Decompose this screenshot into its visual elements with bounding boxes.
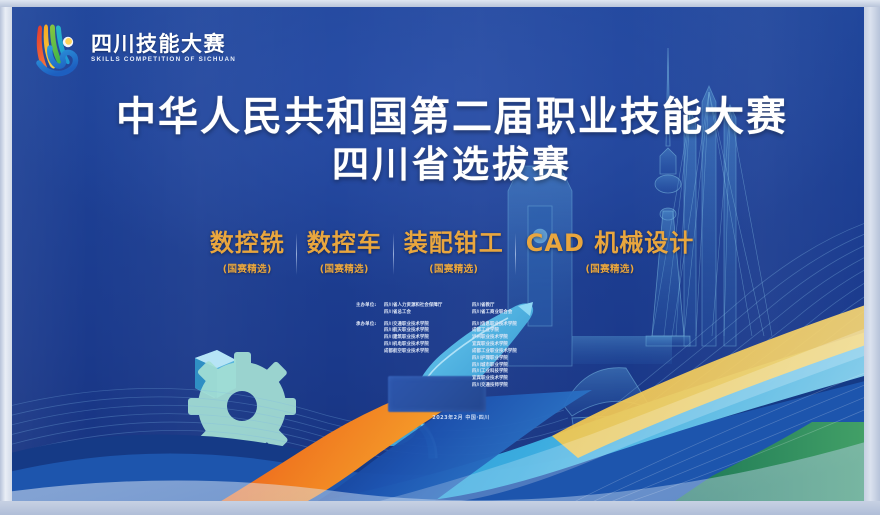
- poster-banner-image: 四川技能大赛 SKILLS COMPETITION OF SICHUAN 中华人…: [0, 0, 880, 515]
- organizer-col-1: 四川交通职业技术学院 四川航天职业技术学院 四川建筑职业技术学院 四川机电职业技…: [384, 322, 462, 390]
- title-line-2: 四川省选拔赛: [12, 141, 864, 189]
- sichuan-skills-emblem-icon: [30, 21, 82, 77]
- category-name: CAD 机械设计: [526, 230, 694, 258]
- logo-title-en: SKILLS COMPETITION OF SICHUAN: [91, 57, 236, 63]
- host-col-1: 四川省人力资源和社会保障厅 四川省总工会: [384, 303, 462, 317]
- category-item-1: 数控车 (国赛精选): [296, 230, 393, 275]
- banner-board: 四川技能大赛 SKILLS COMPETITION OF SICHUAN 中华人…: [12, 6, 864, 503]
- main-title-block: 中华人民共和国第二届职业技能大赛 四川省选拔赛: [12, 94, 864, 189]
- frame-edge-top: [0, 0, 880, 7]
- date-location-line: 2023年2月 中国·四川: [356, 414, 566, 421]
- category-subtitle: (国赛精选): [404, 261, 504, 275]
- category-name: 数控铣: [210, 230, 285, 258]
- credit-entry: 四川省教厅: [472, 303, 544, 310]
- host-row: 主办单位: 四川省人力资源和社会保障厅 四川省总工会 四川省教厅 四川省工商业联…: [356, 303, 566, 317]
- credit-entry: 宜宾职业技术学院: [472, 342, 544, 349]
- category-item-0: 数控铣 (国赛精选): [199, 230, 296, 275]
- credit-entry: 四川交通技师学院: [472, 383, 544, 390]
- logo-title-cn: 四川技能大赛: [91, 34, 236, 55]
- category-name: 数控车: [307, 230, 382, 258]
- credit-entry: 四川机电职业技术学院: [384, 342, 462, 349]
- frame-edge-bottom: [0, 501, 880, 515]
- credit-entry: 成都航空职业技术学院: [384, 349, 462, 356]
- host-label: 主办单位:: [356, 303, 384, 317]
- frame-edge-left: [0, 0, 12, 515]
- category-name: 装配钳工: [404, 230, 504, 258]
- credit-entry: 四川省人力资源和社会保障厅: [384, 303, 462, 310]
- frame-edge-right: [864, 0, 880, 515]
- category-subtitle: (国赛精选): [526, 261, 694, 275]
- wave-lines-left: [12, 388, 596, 496]
- category-list: 数控铣 (国赛精选) 数控车 (国赛精选) 装配钳工 (国赛精选) CAD 机械…: [12, 230, 864, 275]
- category-item-3: CAD 机械设计 (国赛精选): [515, 230, 705, 275]
- organizer-col-2: 四川信息职业技术学院 成都工业学院 泸州职业技术学院 宜宾职业技术学院 成都工业…: [472, 322, 544, 390]
- category-subtitle: (国赛精选): [210, 261, 285, 275]
- credit-entry: 四川省总工会: [384, 310, 462, 317]
- credit-entry: 四川护理职业学院: [472, 356, 544, 363]
- category-subtitle: (国赛精选): [307, 261, 382, 275]
- organizer-row: 承办单位: 四川交通职业技术学院 四川航天职业技术学院 四川建筑职业技术学院 四…: [356, 322, 566, 390]
- title-line-1: 中华人民共和国第二届职业技能大赛: [12, 94, 864, 141]
- organizer-label: 承办单位:: [356, 322, 384, 390]
- credit-entry: 成都工业职业技术学院: [472, 349, 544, 356]
- cube-icon: [195, 350, 236, 398]
- category-item-2: 装配钳工 (国赛精选): [393, 230, 515, 275]
- credit-entry: 四川省工商业联合会: [472, 310, 544, 317]
- gear-icon: [188, 352, 296, 460]
- organizer-credits: 主办单位: 四川省人力资源和社会保障厅 四川省总工会 四川省教厅 四川省工商业联…: [356, 303, 566, 395]
- host-col-2: 四川省教厅 四川省工商业联合会: [472, 303, 544, 317]
- competition-logo: 四川技能大赛 SKILLS COMPETITION OF SICHUAN: [30, 16, 330, 82]
